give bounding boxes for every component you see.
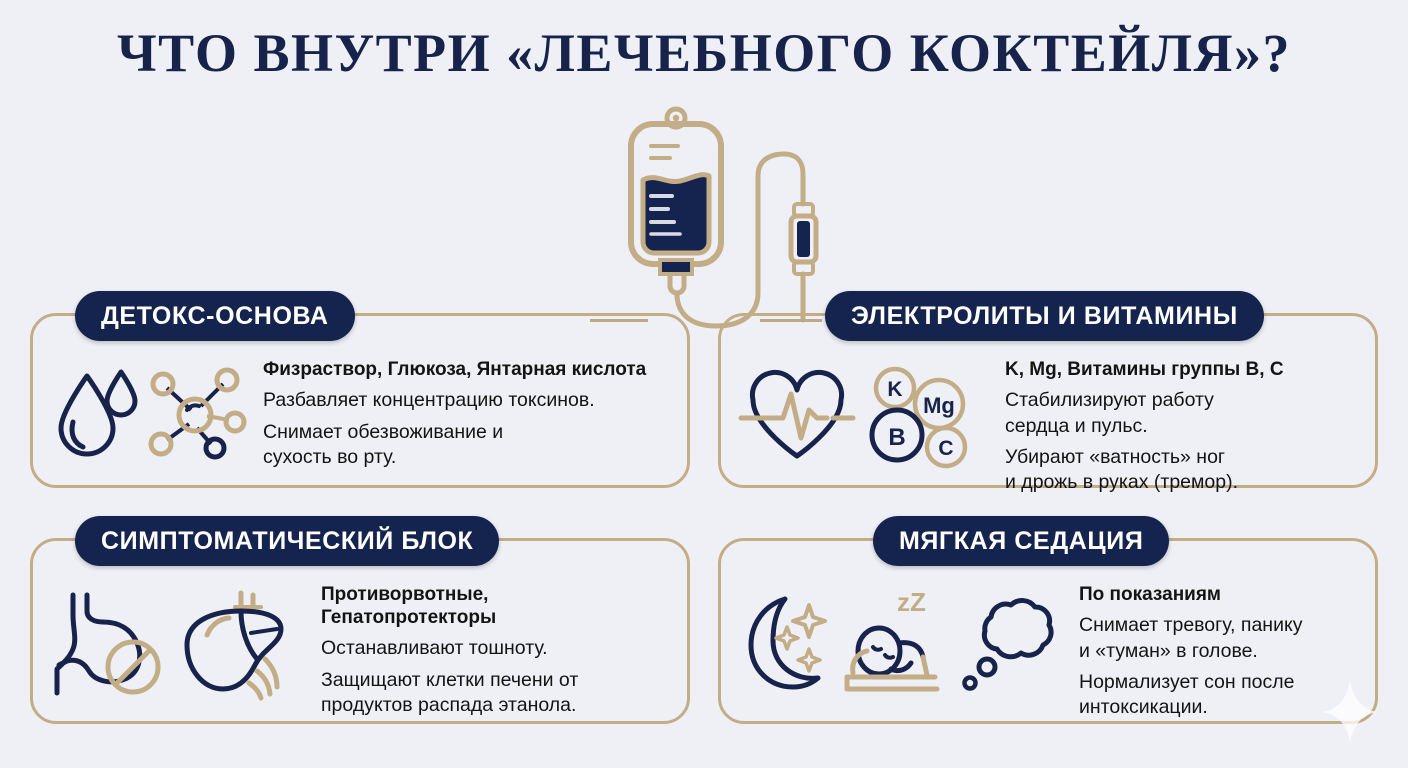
card-header-electrolytes-vitamins: ЭЛЕКТРОЛИТЫ И ВИТАМИНЫ [825, 291, 1264, 341]
stomach-no-nausea-icon [51, 589, 171, 699]
liver-icon [177, 589, 299, 699]
card-lead-soft-sedation: По показаниям [1079, 583, 1361, 606]
card-paragraph: Снимает тревогу, панику и «туман» в голо… [1079, 613, 1361, 664]
card-paragraph: Нормализует сон после интоксикации. [1079, 670, 1361, 721]
card-soft-sedation[interactable]: МЯГКАЯ СЕДАЦИЯ zZ [718, 538, 1378, 724]
card-paragraph: Останавливают тошноту. [321, 636, 673, 661]
sleep-z-label: zZ [897, 587, 926, 617]
card-paragraph: Снимает обезвоживание и сухость во рту. [263, 420, 673, 471]
vitamin-circles-icon: K Mg B C [861, 364, 979, 468]
card-icons-detox-base [51, 356, 247, 460]
card-icons-electrolytes-vitamins: K Mg B C [739, 356, 979, 468]
vitamin-label-k: K [887, 378, 902, 401]
card-icons-symptomatic-block [51, 581, 299, 699]
card-electrolytes-vitamins[interactable]: ЭЛЕКТРОЛИТЫ И ВИТАМИНЫ K Mg B [718, 313, 1378, 488]
card-lead-electrolytes-vitamins: K, Mg, Витамины группы B, C [1005, 358, 1361, 381]
card-detox-base[interactable]: ДЕТОКС-ОСНОВА [30, 313, 690, 488]
card-paragraph: Защищают клетки печени от продуктов расп… [321, 668, 673, 719]
vitamin-label-c: C [938, 437, 953, 460]
moon-stars-icon [739, 591, 835, 695]
heart-pulse-icon [739, 368, 855, 464]
card-lead-symptomatic-block: Противорвотные, Гепатопротекторы [321, 583, 673, 629]
card-symptomatic-block[interactable]: СИМПТОМАТИЧЕСКИЙ БЛОК [30, 538, 690, 724]
page-title: ЧТО ВНУТРИ «ЛЕЧЕБНОГО КОКТЕЙЛЯ»? [0, 22, 1408, 84]
card-paragraph: Разбавляет концентрацию токсинов. [263, 388, 673, 413]
card-header-symptomatic-block: СИМПТОМАТИЧЕСКИЙ БЛОК [75, 516, 499, 566]
vitamin-label-b: B [888, 424, 905, 451]
card-lead-detox-base: Физраствор, Глюкоза, Янтарная кислота [263, 358, 673, 381]
card-paragraph: Стабилизируют работу сердца и пульс. [1005, 388, 1361, 439]
molecule-icon [143, 364, 247, 460]
water-drop-icon [51, 364, 137, 460]
card-paragraph: Убирают «ватность» ног и дрожь в руках (… [1005, 445, 1361, 496]
vitamin-label-mg: Mg [923, 393, 955, 418]
card-header-detox-base: ДЕТОКС-ОСНОВА [75, 291, 355, 341]
thought-cloud-icon [957, 591, 1065, 695]
card-icons-soft-sedation: zZ [739, 581, 1065, 697]
card-header-soft-sedation: МЯГКАЯ СЕДАЦИЯ [873, 516, 1169, 566]
sleeping-person-icon: zZ [841, 589, 951, 697]
